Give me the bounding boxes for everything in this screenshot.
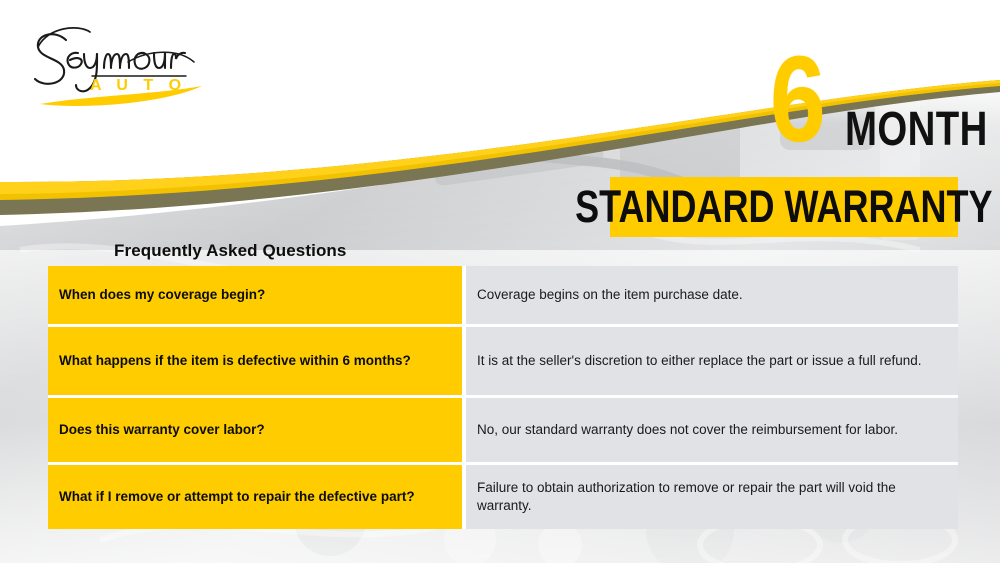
- table-row: Does this warranty cover labor? No, our …: [48, 398, 958, 465]
- warranty-months-number: 6: [770, 47, 824, 152]
- faq-question: Does this warranty cover labor?: [48, 398, 466, 465]
- faq-answer: Coverage begins on the item purchase dat…: [466, 266, 958, 327]
- faq-section-title: Frequently Asked Questions: [114, 241, 346, 261]
- faq-question: When does my coverage begin?: [48, 266, 466, 327]
- faq-answer: Failure to obtain authorization to remov…: [466, 465, 958, 529]
- faq-answer: It is at the seller's discretion to eith…: [466, 327, 958, 398]
- seymour-auto-logo: A U T O: [18, 18, 218, 108]
- table-row: What happens if the item is defective wi…: [48, 327, 958, 398]
- faq-table: When does my coverage begin? Coverage be…: [48, 266, 958, 529]
- table-row: What if I remove or attempt to repair th…: [48, 465, 958, 529]
- standard-warranty-banner-text: STANDARD WARRANTY: [575, 181, 992, 233]
- faq-answer: No, our standard warranty does not cover…: [466, 398, 958, 465]
- table-row: When does my coverage begin? Coverage be…: [48, 266, 958, 327]
- faq-question: What if I remove or attempt to repair th…: [48, 465, 466, 529]
- standard-warranty-banner: STANDARD WARRANTY: [610, 177, 958, 237]
- warranty-slide: A U T O 6 MONTH STANDARD WARRANTY Freque…: [0, 0, 1000, 563]
- warranty-months-unit: MONTH: [845, 106, 988, 154]
- faq-question: What happens if the item is defective wi…: [48, 327, 466, 398]
